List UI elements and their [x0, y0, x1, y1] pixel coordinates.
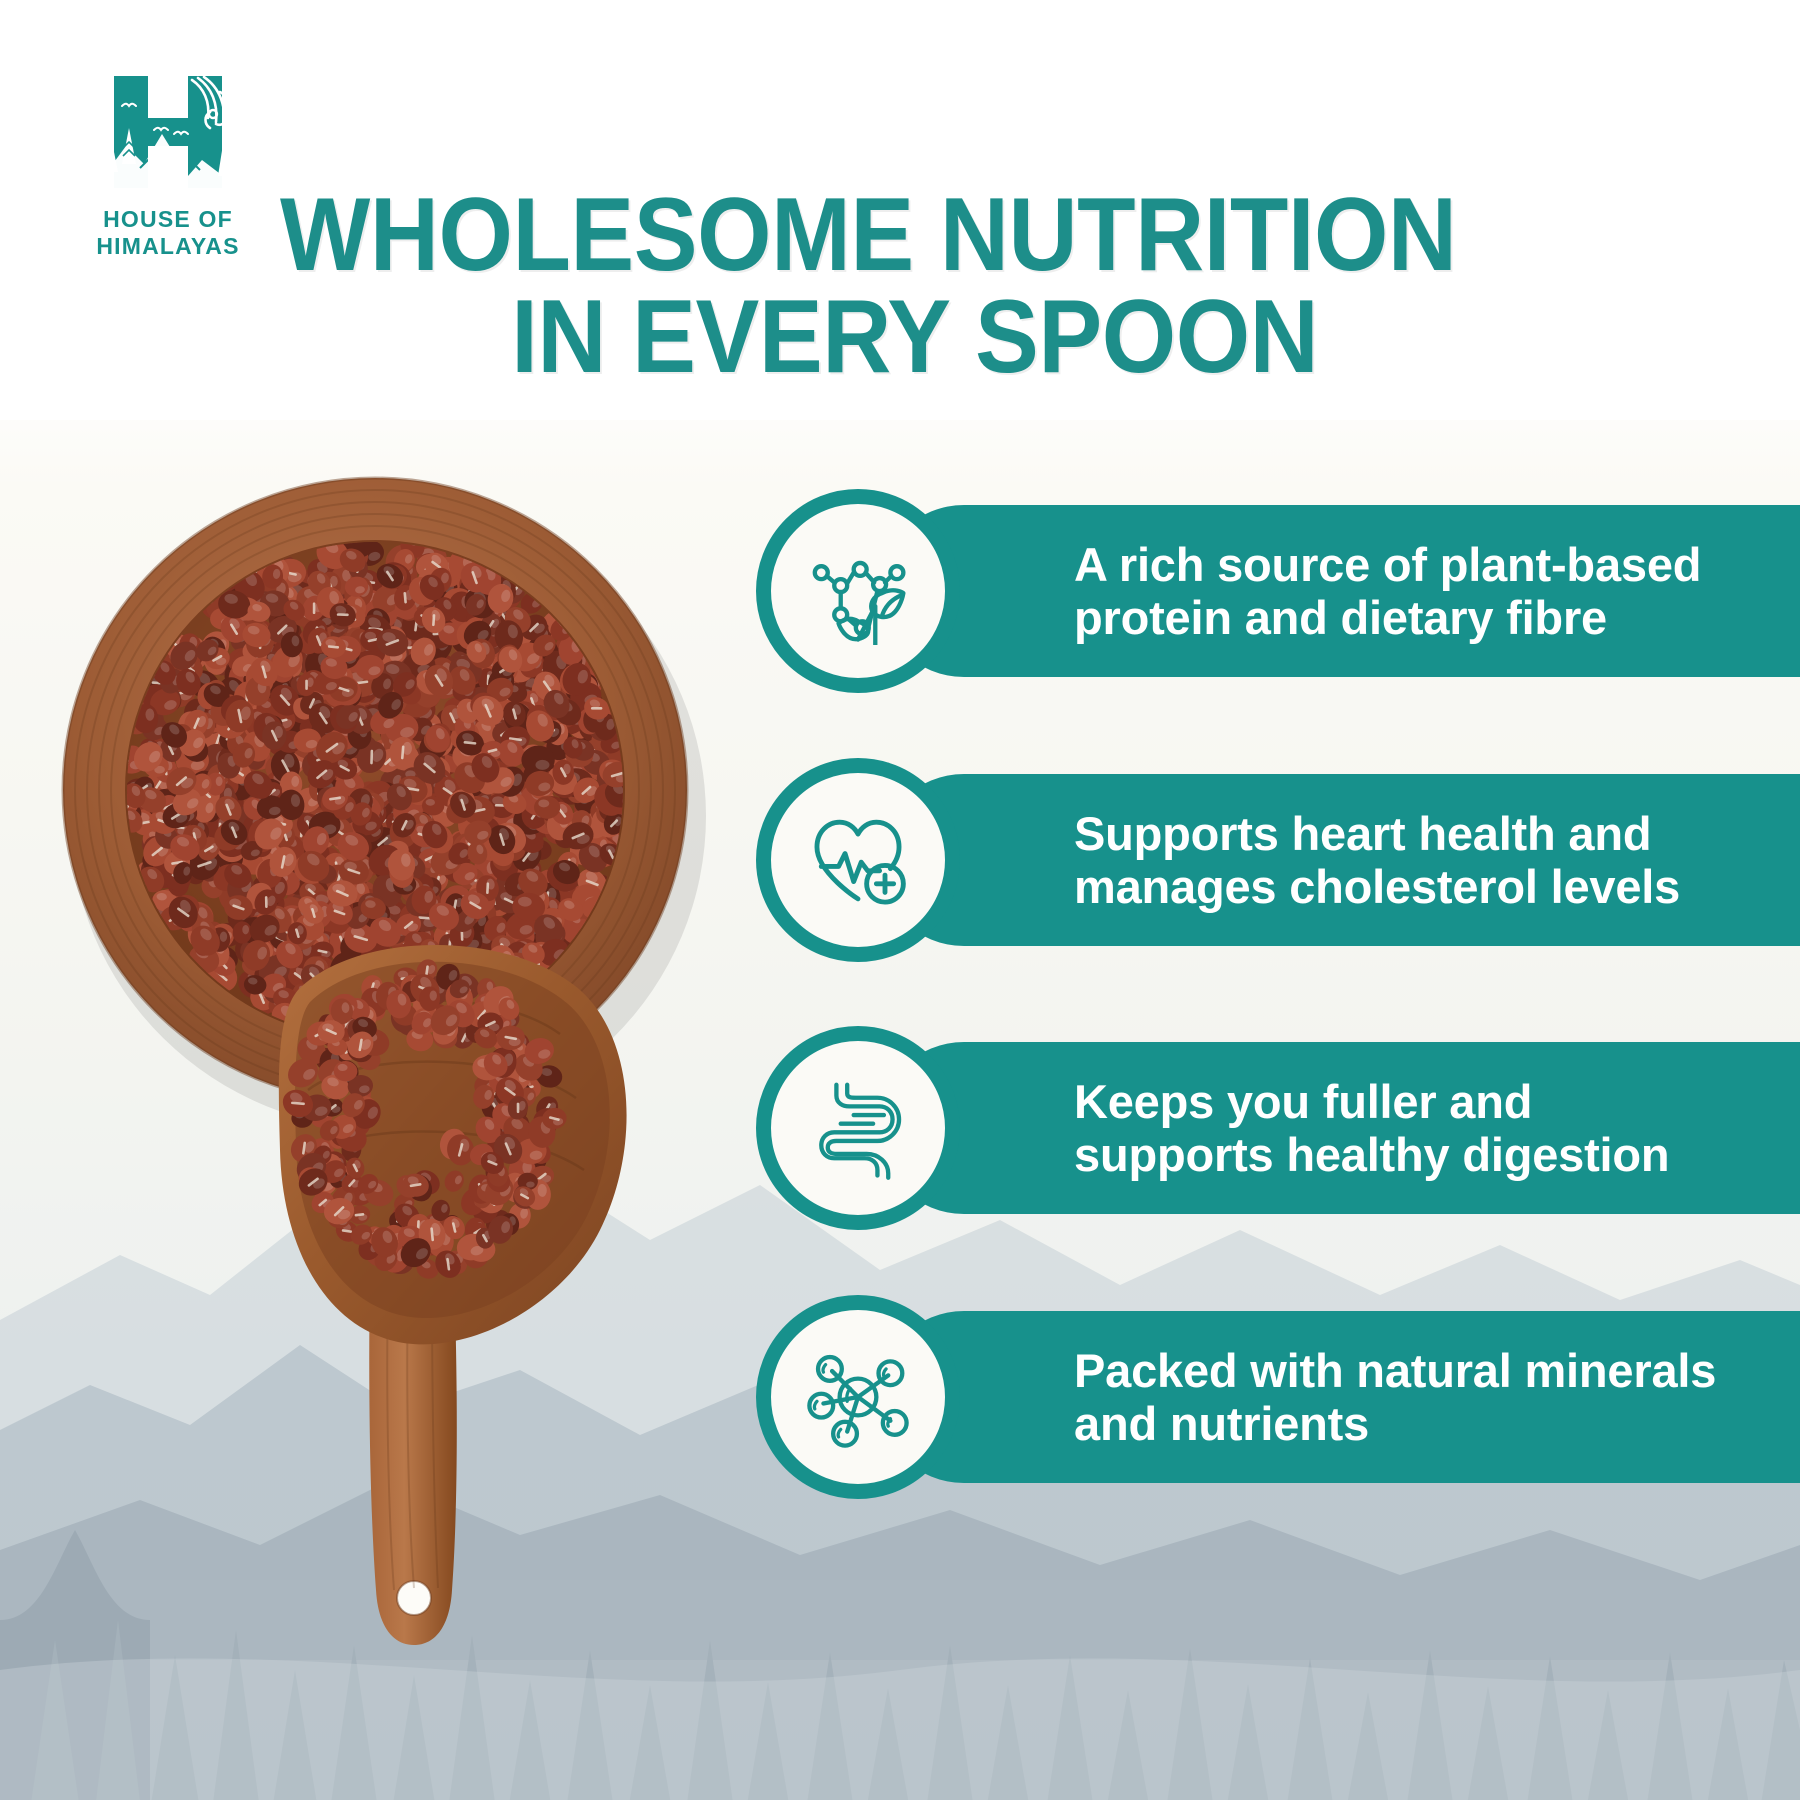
feature-line-1: Keeps you fuller and [1074, 1075, 1669, 1128]
feature-card-heart[interactable]: Supports heart health and manages choles… [878, 774, 1800, 946]
feature-card-protein[interactable]: A rich source of plant-based protein and… [878, 505, 1800, 677]
feature-line-1: Packed with natural minerals [1074, 1344, 1716, 1397]
feature-line-2: supports healthy digestion [1074, 1128, 1669, 1181]
molecule-leaf-icon [756, 489, 960, 693]
feature-line-2: manages cholesterol levels [1074, 860, 1680, 913]
feature-card-text: Keeps you fuller and supports healthy di… [1074, 1075, 1699, 1181]
feature-list: A rich source of plant-based protein and… [0, 0, 1800, 1800]
feature-line-1: Supports heart health and [1074, 807, 1680, 860]
intestine-icon [756, 1026, 960, 1230]
heart-pulse-plus-icon [756, 758, 960, 962]
feature-card-text: A rich source of plant-based protein and… [1074, 538, 1731, 644]
feature-card-minerals[interactable]: Packed with natural minerals and nutrien… [878, 1311, 1800, 1483]
feature-card-text: Supports heart health and manages choles… [1074, 807, 1710, 913]
feature-line-2: protein and dietary fibre [1074, 591, 1701, 644]
feature-line-1: A rich source of plant-based [1074, 538, 1701, 591]
feature-card-digestion[interactable]: Keeps you fuller and supports healthy di… [878, 1042, 1800, 1214]
poster-canvas: HOUSE OF HIMALAYAS WHOLESOME NUTRITION I… [0, 0, 1800, 1800]
feature-line-2: and nutrients [1074, 1397, 1716, 1450]
feature-card-text: Packed with natural minerals and nutrien… [1074, 1344, 1746, 1450]
mineral-molecule-icon [756, 1295, 960, 1499]
